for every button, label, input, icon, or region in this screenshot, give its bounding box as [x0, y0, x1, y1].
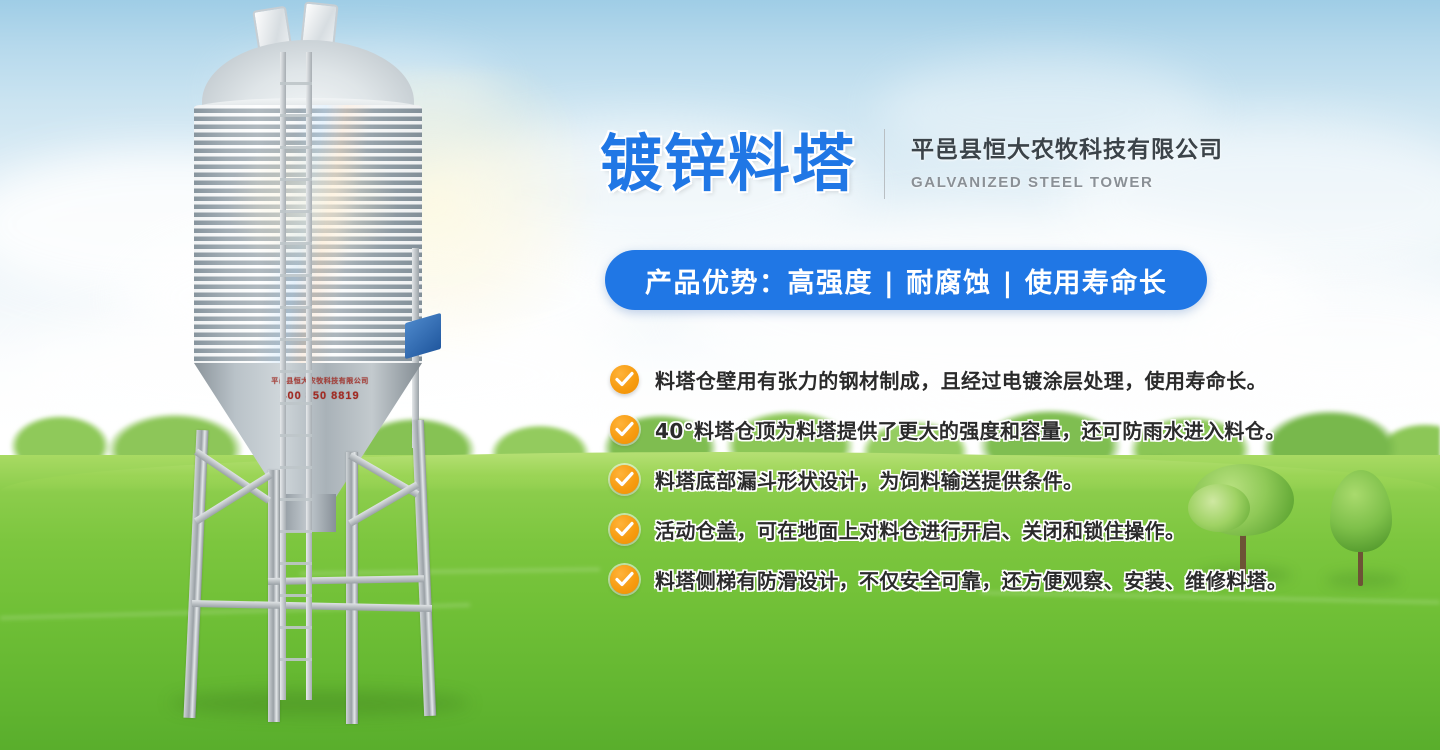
feature-text: 料塔侧梯有防滑设计，不仅安全可靠，还方便观察、安装、维修料塔。 — [655, 565, 1287, 594]
feature-text: 料塔底部漏斗形状设计，为饲料输送提供条件。 — [655, 465, 1083, 494]
page-title: 镀锌料塔 — [600, 133, 856, 195]
galvanized-silo-image: 平邑县恒大农牧科技有限公司 400 850 8819 — [150, 0, 510, 750]
company-block: 平邑县恒大农牧科技有限公司 GALVANIZED STEEL TOWER — [911, 137, 1223, 191]
check-circle-icon — [610, 415, 639, 444]
feature-text: 活动仓盖，可在地面上对料仓进行开启、关闭和锁住操作。 — [655, 515, 1185, 544]
title-row: 镀锌料塔 平邑县恒大农牧科技有限公司 GALVANIZED STEEL TOWE… — [600, 118, 1223, 210]
feature-list: 料塔仓壁用有张力的钢材制成，且经过电镀涂层处理，使用寿命长。 40°料塔仓顶为料… — [610, 362, 1310, 612]
advantage-badge-label: 产品优势：高强度 | 耐腐蚀 | 使用寿命长 — [645, 261, 1167, 300]
company-name-english: GALVANIZED STEEL TOWER — [911, 174, 1223, 191]
list-item: 料塔仓壁用有张力的钢材制成，且经过电镀涂层处理，使用寿命长。 — [610, 362, 1310, 396]
check-circle-icon — [610, 465, 639, 494]
feature-text: 料塔仓壁用有张力的钢材制成，且经过电镀涂层处理，使用寿命长。 — [655, 365, 1267, 394]
advantage-badge: 产品优势：高强度 | 耐腐蚀 | 使用寿命长 — [605, 250, 1207, 310]
silo-support-leg — [183, 430, 208, 718]
lawn-tree — [1318, 470, 1404, 588]
list-item: 料塔底部漏斗形状设计，为饲料输送提供条件。 — [610, 462, 1310, 496]
check-circle-icon — [610, 515, 639, 544]
silo-support-leg — [346, 452, 358, 724]
list-item: 40°料塔仓顶为料塔提供了更大的强度和容量，还可防雨水进入料仓。 — [610, 412, 1310, 446]
silo-support-leg — [412, 420, 436, 716]
title-divider — [884, 129, 885, 199]
ladder-rail — [280, 52, 286, 700]
silo-cross-brace — [348, 481, 419, 526]
ladder-rail — [306, 52, 312, 700]
check-circle-icon — [610, 365, 639, 394]
check-circle-icon — [610, 565, 639, 594]
banner-content: 镀锌料塔 平邑县恒大农牧科技有限公司 GALVANIZED STEEL TOWE… — [600, 0, 1320, 750]
silo-ladder — [278, 52, 314, 700]
feature-text: 40°料塔仓顶为料塔提供了更大的强度和容量，还可防雨水进入料仓。 — [655, 415, 1286, 444]
list-item: 料塔侧梯有防滑设计，不仅安全可靠，还方便观察、安装、维修料塔。 — [610, 562, 1310, 596]
list-item: 活动仓盖，可在地面上对料仓进行开启、关闭和锁住操作。 — [610, 512, 1310, 546]
company-name: 平邑县恒大农牧科技有限公司 — [911, 137, 1223, 165]
promo-banner: 平邑县恒大农牧科技有限公司 400 850 8819 — [0, 0, 1440, 750]
